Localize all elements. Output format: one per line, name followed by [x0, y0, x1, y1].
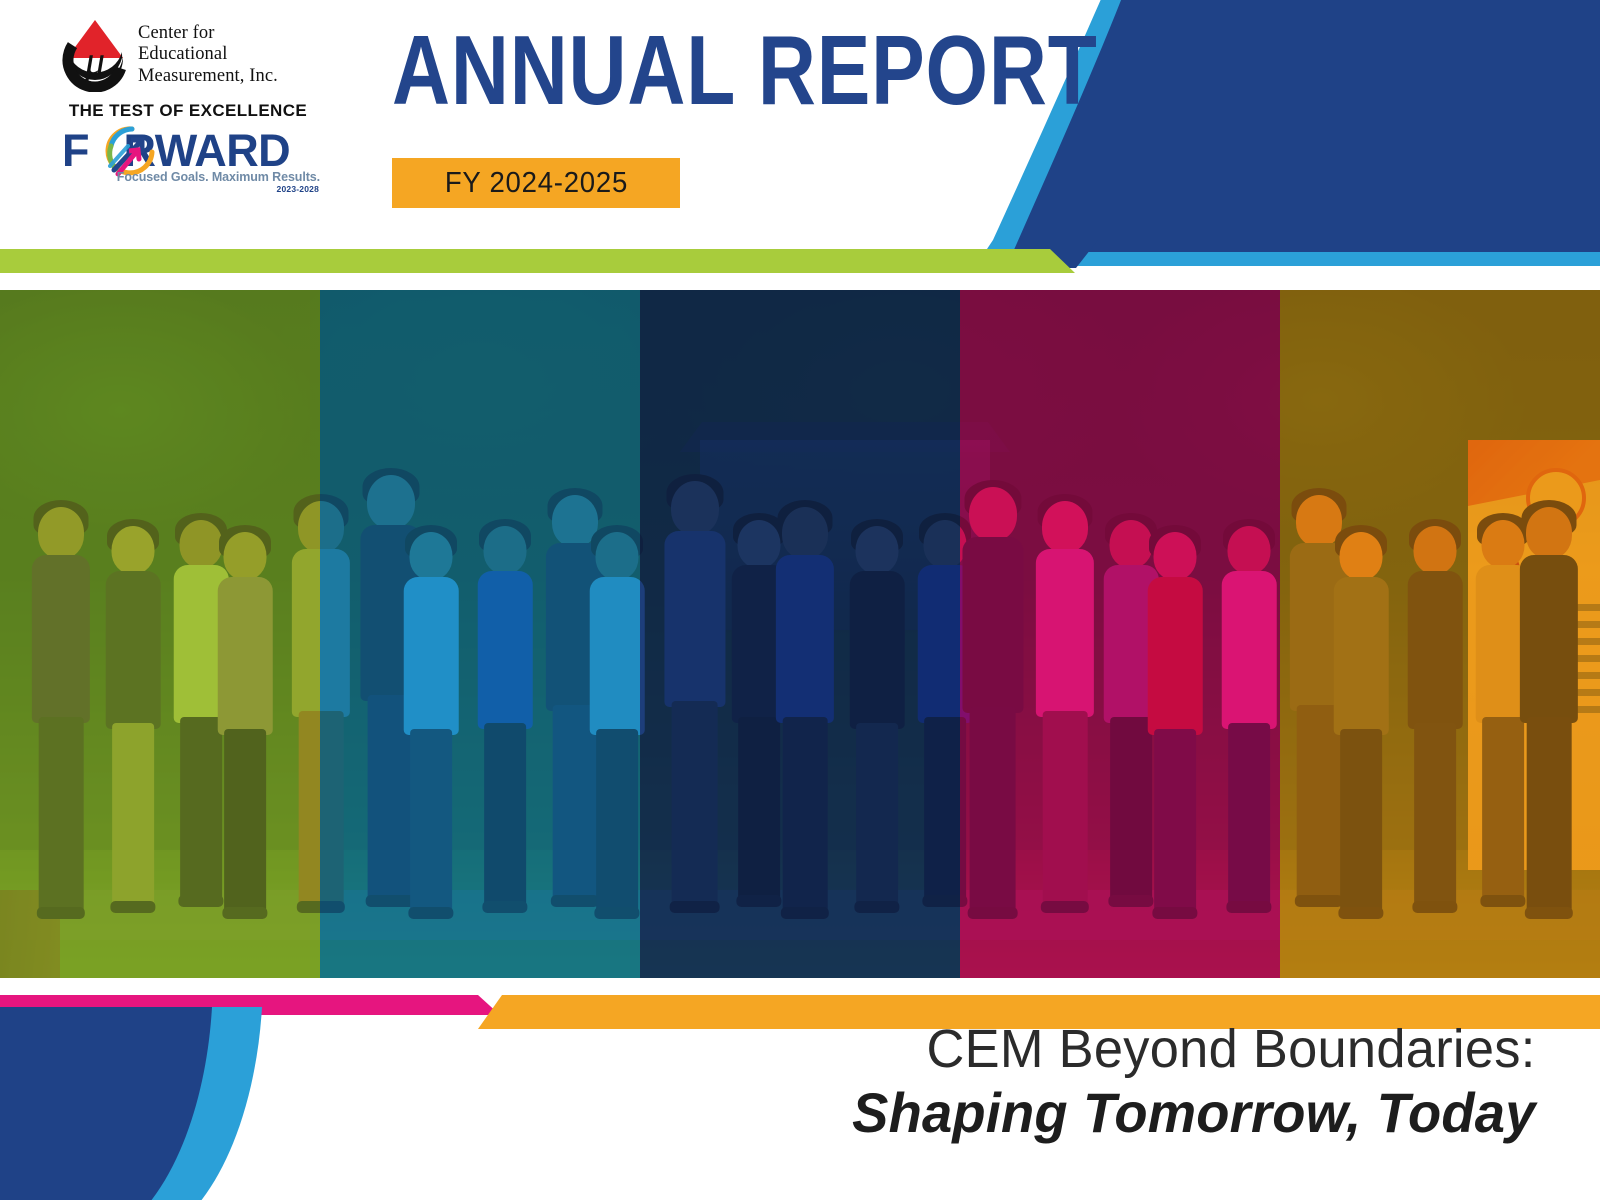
panel-magenta-tint	[960, 290, 1280, 978]
cover-footer: CEM Beyond Boundaries: Shaping Tomorrow,…	[0, 978, 1600, 1200]
cem-wordmark-line1: Center for	[138, 23, 278, 45]
cem-logo-block: μ Center for Educational Measurement, In…	[62, 18, 324, 218]
cover-photo-strip: VI	[0, 290, 1600, 978]
report-theme: CEM Beyond Boundaries: Shaping Tomorrow,…	[831, 1018, 1536, 1146]
forward-logo: FORWARD Focused Goals. Maximum Results. …	[62, 128, 320, 190]
panel-blue-tint	[320, 290, 640, 978]
report-theme-line2: Shaping Tomorrow, Today	[853, 1080, 1536, 1146]
cover-header: μ Center for Educational Measurement, In…	[0, 0, 1600, 290]
cem-wordmark-line2: Educational	[138, 44, 278, 66]
report-theme-line1: CEM Beyond Boundaries:	[853, 1018, 1536, 1080]
forward-wordmark-pre: F	[62, 125, 89, 176]
report-cover-page: μ Center for Educational Measurement, In…	[0, 0, 1600, 1200]
panel-green-tint	[0, 290, 320, 978]
fiscal-year-label: FY 2024-2025	[444, 167, 627, 200]
forward-tagline: Focused Goals. Maximum Results.	[117, 170, 320, 184]
forward-wordmark: FORWARD	[62, 128, 290, 173]
header-cyan-bar	[1055, 252, 1600, 266]
cem-logo-lockup: μ Center for Educational Measurement, In…	[62, 18, 324, 92]
forward-years: 2023-2028	[277, 184, 319, 194]
panel-navy-tint	[640, 290, 960, 978]
svg-text:μ: μ	[84, 38, 105, 83]
page-title: ANNUAL REPORT	[392, 21, 1098, 119]
cem-slogan: THE TEST OF EXCELLENCE	[62, 101, 314, 121]
panel-orange-tint	[1280, 290, 1600, 978]
header-green-band	[0, 249, 1075, 273]
cem-droplet-mu-icon: μ	[62, 18, 128, 92]
cem-wordmark: Center for Educational Measurement, Inc.	[138, 23, 278, 88]
fiscal-year-badge: FY 2024-2025	[392, 158, 680, 208]
cem-wordmark-line3: Measurement, Inc.	[138, 66, 278, 88]
